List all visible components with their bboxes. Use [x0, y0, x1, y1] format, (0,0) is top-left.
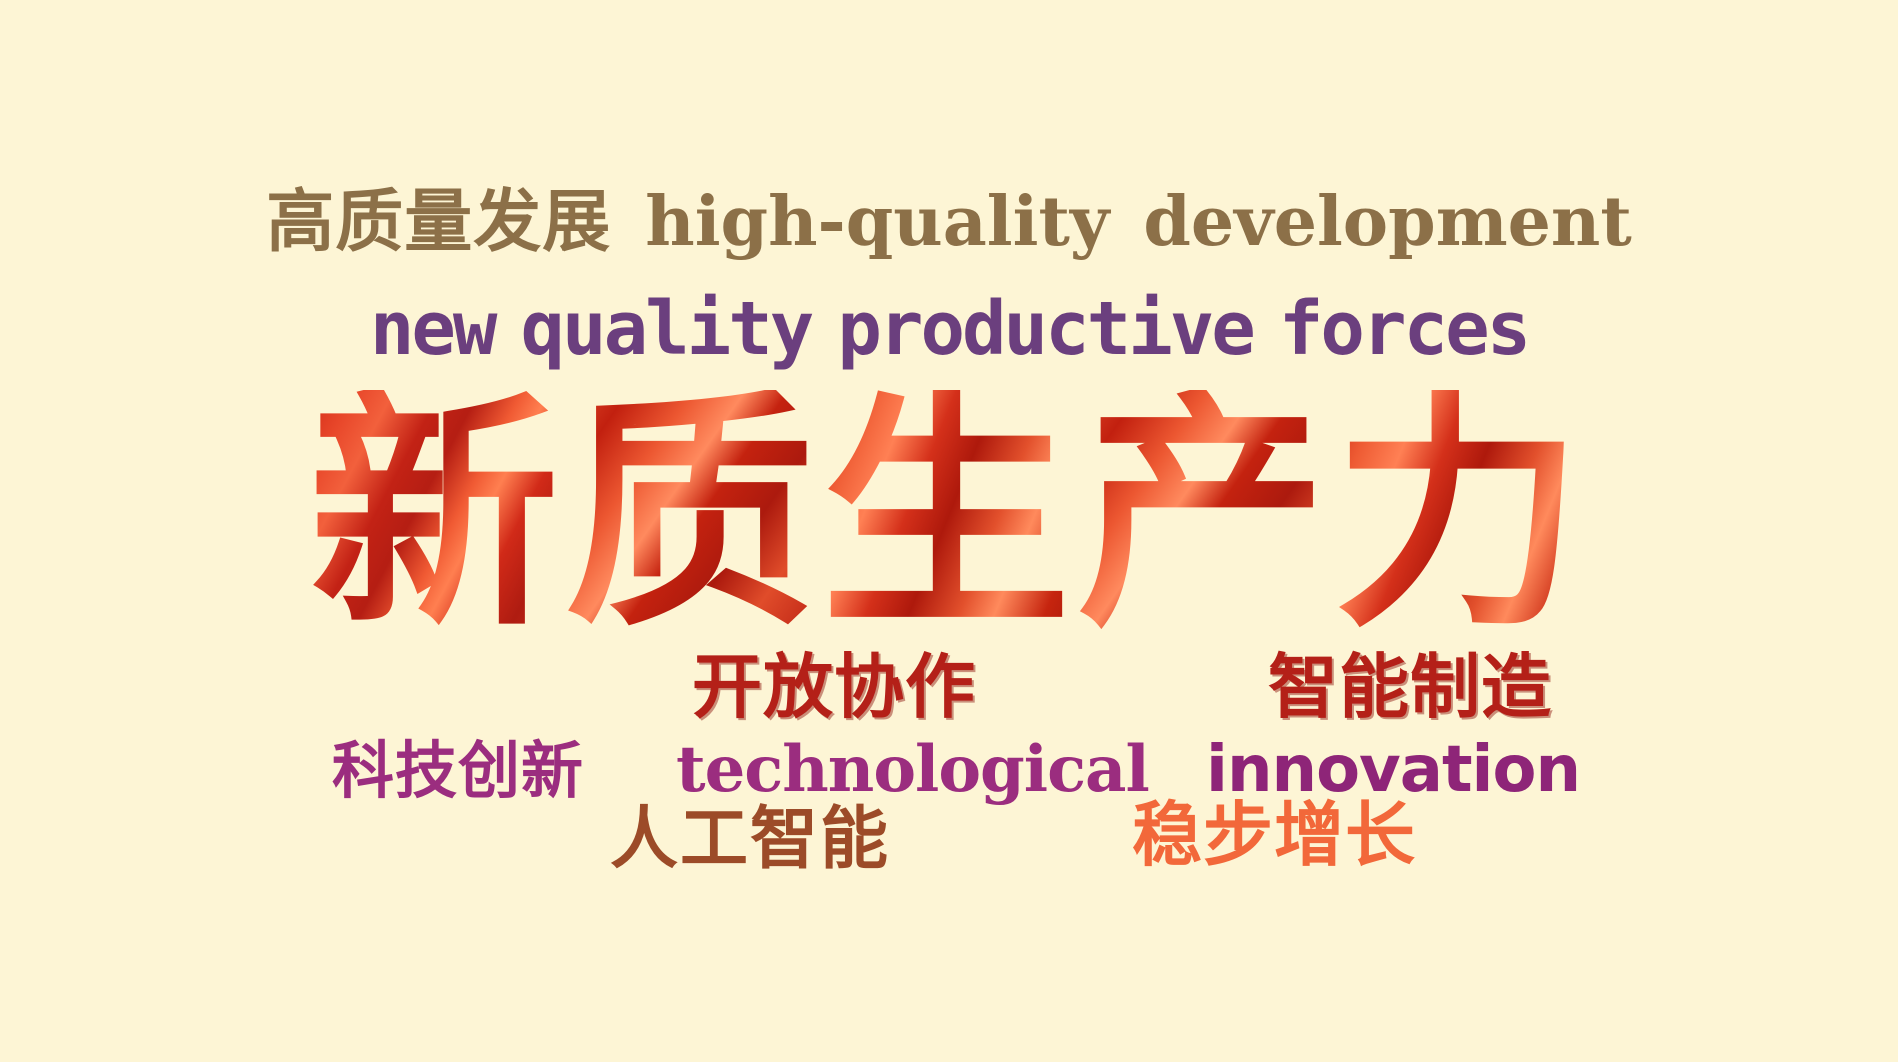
word-development: development: [1143, 182, 1631, 262]
headline-char-sheng: 生: [821, 390, 1077, 640]
word-gaozhiliangfazhan: 高质量发展: [266, 183, 611, 262]
headline-char-zhi: 质: [565, 390, 821, 640]
word-quality: quality: [520, 286, 811, 372]
headline-xinzhishengchanli: 新质生产力: [0, 390, 1898, 640]
word-kaifangxiezuo: 开放协作: [692, 652, 976, 722]
headline-char-chan: 产: [1077, 390, 1333, 640]
word-innovation: innovation: [1206, 738, 1580, 802]
headline-char-li: 力: [1333, 390, 1589, 640]
word-new: new: [370, 286, 495, 372]
word-technological: technological: [676, 738, 1149, 802]
word-kejichuangxin: 科技创新: [332, 740, 584, 802]
word-cloud-canvas: 高质量发展high-qualitydevelopment newqualityp…: [0, 0, 1898, 1062]
word-high-quality: high-quality: [645, 182, 1109, 262]
word-forces: forces: [1279, 286, 1528, 372]
word-row-high-quality-development: 高质量发展high-qualitydevelopment: [0, 188, 1898, 257]
headline-char-xin: 新: [309, 390, 565, 640]
word-zhinengzhizao: 智能制造: [1268, 652, 1552, 722]
word-wenbuzengzhang: 稳步增长: [1132, 800, 1416, 870]
word-row-new-quality-productive-forces: newqualityproductiveforces: [0, 292, 1898, 366]
word-rengongzhineng: 人工智能: [610, 806, 890, 874]
word-productive: productive: [837, 286, 1253, 372]
